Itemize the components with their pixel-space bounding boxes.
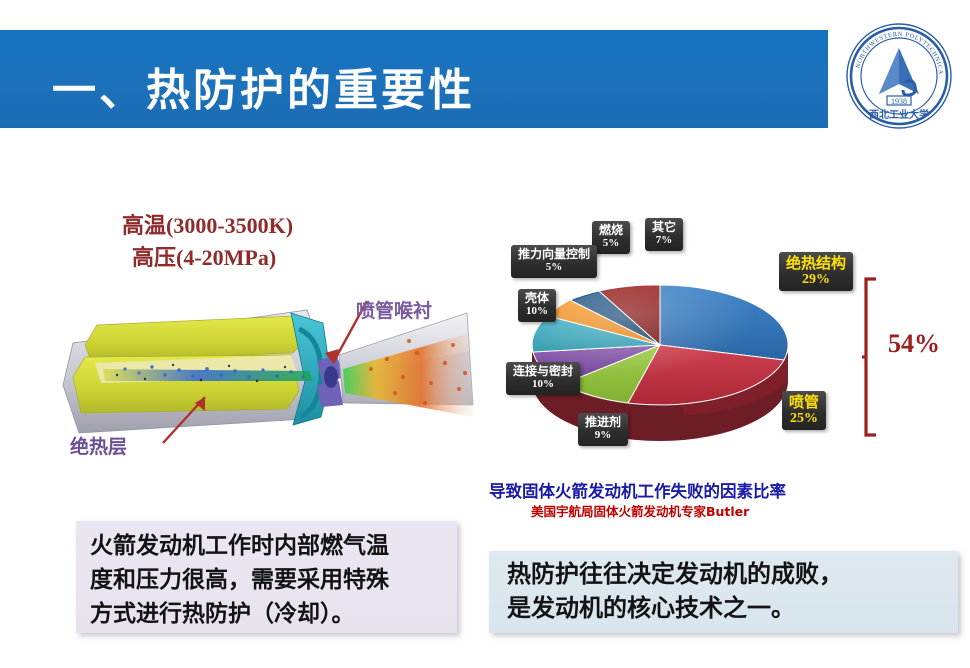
callout-right-line-2: 是发动机的核心技术之一。 — [507, 592, 946, 626]
callout-right-line-1: 热防护往往决定发动机的成败， — [507, 558, 946, 592]
chart-title: 导致固体火箭发动机工作失败的因素比率 — [489, 478, 786, 502]
callout-left-line-2: 度和压力很高，需要采用特殊 — [90, 563, 445, 597]
northwestern-polytechnical-university-logo: 1938 西北工业大学 NORTHWESTERN POLYTECHNICAL U… — [845, 22, 953, 130]
callout-left: 火箭发动机工作时内部燃气温 度和压力很高，需要采用特殊 方式进行热防护（冷却）。 — [76, 521, 457, 633]
operating-condition-note: 高温(3000-3500K) 高压(4-20MPa) — [122, 210, 293, 274]
label-throat-insert: 喷管喉衬 — [356, 296, 432, 323]
pie-label-insulation-structure: 绝热结构 29% — [779, 252, 853, 291]
pie-label-other: 其它 7% — [645, 218, 683, 251]
logo-year-text: 1938 — [891, 97, 907, 106]
pie-label-nozzle: 喷管 25% — [782, 391, 826, 430]
logo-cn-text: 西北工业大学 — [869, 108, 929, 121]
pie-label-case: 壳体 10% — [518, 289, 556, 322]
pie-label-propellant: 推进剂 9% — [578, 413, 628, 446]
callout-right: 热防护往往决定发动机的成败， 是发动机的核心技术之一。 — [489, 551, 958, 633]
pie-label-joint-and-seal: 连接与密封 10% — [506, 362, 580, 395]
callout-left-line-1: 火箭发动机工作时内部燃气温 — [90, 529, 445, 563]
pie-label-thrust-vector-control: 推力向量控制 5% — [511, 245, 597, 278]
highlight-bracket — [862, 277, 884, 437]
chart-subtitle: 美国宇航局固体火箭发动机专家Butler — [531, 501, 749, 520]
label-insulation-layer: 绝热层 — [70, 432, 127, 459]
high-temperature-text: 高温(3000-3500K) — [122, 213, 293, 238]
highlight-total-percent: 54% — [888, 329, 940, 359]
pie-label-combustion: 燃烧 5% — [592, 221, 630, 254]
high-pressure-text: 高压(4-20MPa) — [132, 242, 293, 274]
callout-left-line-3: 方式进行热防护（冷却）。 — [90, 597, 445, 631]
